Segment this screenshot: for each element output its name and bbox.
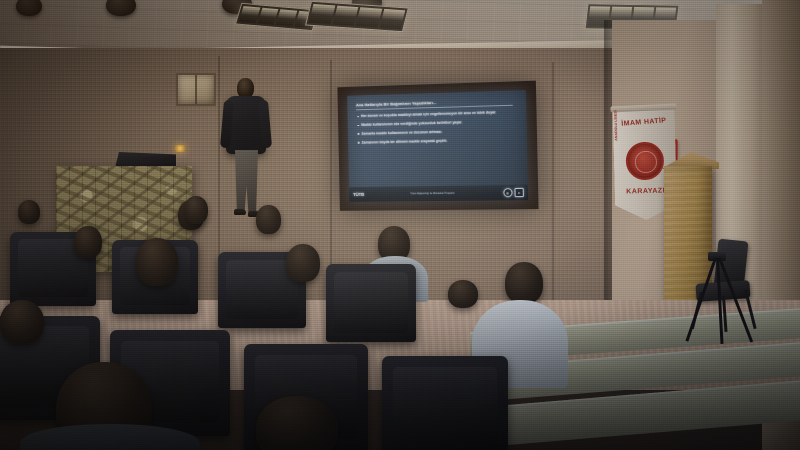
floor-shadow-gradient xyxy=(0,300,800,450)
slide-bullet: Madde kullanımının söz verdiğinde yoksun… xyxy=(356,119,518,128)
audience-head xyxy=(256,205,281,234)
certification-mark-icon: ◎ xyxy=(503,188,512,197)
slide-bullet: Her durum ve koşulda maddeyi almak için … xyxy=(356,110,518,120)
slide-bullet: Zamanının büyük bir dilimini madde araya… xyxy=(357,137,519,146)
slide-footer-text: Tütün Bağımlılığı ile Mücadele Programı xyxy=(410,192,455,195)
audience-head xyxy=(136,238,178,286)
presenter-jeans xyxy=(235,150,258,212)
auditorium-presentation-photo: Ana Hatlarıyla Bir Bağımlının Yaşadıklar… xyxy=(0,0,800,450)
audience-head xyxy=(505,262,543,304)
audience-head xyxy=(18,200,40,224)
wall-seam xyxy=(552,62,554,302)
presenter-person xyxy=(222,78,272,223)
projection-screen: Ana Hatlarıyla Bir Bağımlının Yaşadıklar… xyxy=(337,81,538,211)
indicator-lamp-icon xyxy=(175,145,185,152)
banner-side-text: ANADOLU LİSESİ xyxy=(614,110,619,140)
audience-head xyxy=(184,196,208,224)
slide-footer: TÜTB Tütün Bağımlılığı ile Mücadele Prog… xyxy=(349,185,528,202)
presentation-slide: Ana Hatlarıyla Bir Bağımlının Yaşadıklar… xyxy=(347,90,528,202)
projection-booth-window xyxy=(176,73,216,106)
slide-bullet-list: Her durum ve koşulda maddeyi almak için … xyxy=(356,110,518,146)
audience-head xyxy=(286,244,320,282)
audience-head xyxy=(74,226,102,258)
presenter-shoe xyxy=(234,209,246,215)
slide-footer-marks: ◎ C xyxy=(503,188,524,197)
slide-footer-logo: TÜTB xyxy=(353,192,364,197)
slide-bullet: Zamanla madde kullanımının ve dozunun ar… xyxy=(357,128,519,137)
certification-mark-icon: C xyxy=(514,188,523,197)
